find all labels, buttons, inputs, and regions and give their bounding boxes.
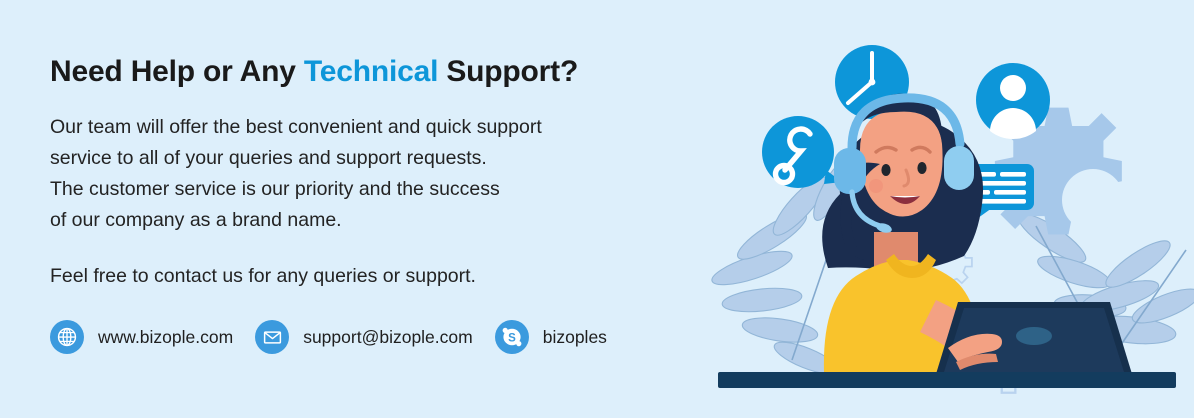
- desk: [718, 372, 1176, 388]
- contact-item-skype[interactable]: S bizoples: [495, 320, 607, 354]
- description-line-4: of our company as a brand name.: [50, 205, 730, 236]
- contact-label-skype: bizoples: [543, 327, 607, 348]
- contact-label-email: support@bizople.com: [303, 327, 473, 348]
- contact-label-website: www.bizople.com: [98, 327, 233, 348]
- contact-row: www.bizople.com support@bizople.com S: [50, 320, 607, 354]
- text-content: Need Help or Any Technical Support? Our …: [50, 55, 730, 292]
- contact-item-website[interactable]: www.bizople.com: [50, 320, 233, 354]
- contact-item-email[interactable]: support@bizople.com: [255, 320, 473, 354]
- envelope-icon: [255, 320, 289, 354]
- wrench-speech-bubble-icon: [762, 116, 842, 188]
- globe-icon: [50, 320, 84, 354]
- description-paragraph: Our team will offer the best convenient …: [50, 112, 730, 236]
- support-banner: Need Help or Any Technical Support? Our …: [0, 0, 1194, 418]
- svg-text:S: S: [508, 333, 516, 345]
- call-to-action-text: Feel free to contact us for any queries …: [50, 261, 730, 292]
- page-title-part1: Need Help or Any: [50, 55, 304, 88]
- page-title: Need Help or Any Technical Support?: [50, 55, 730, 88]
- customer-support-agent-illustration: [700, 0, 1194, 418]
- page-title-accent: Technical: [304, 55, 438, 88]
- description-line-1: Our team will offer the best convenient …: [50, 112, 730, 143]
- description-line-3: The customer service is our priority and…: [50, 174, 730, 205]
- page-title-part2: Support?: [438, 55, 578, 88]
- skype-icon: S: [495, 320, 529, 354]
- description-line-2: service to all of your queries and suppo…: [50, 143, 730, 174]
